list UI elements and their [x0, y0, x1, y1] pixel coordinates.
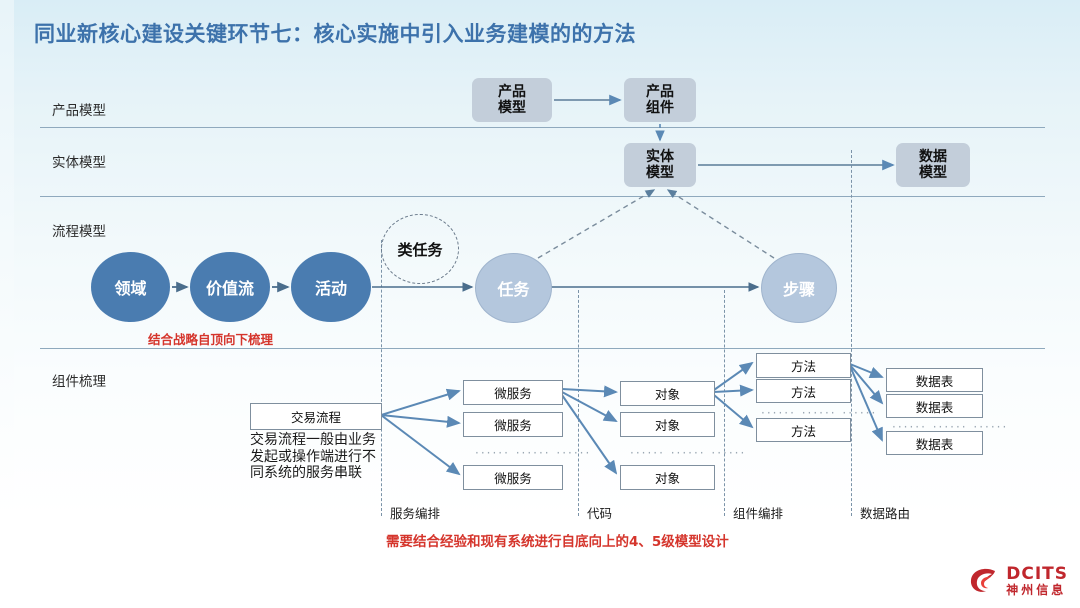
method-box-1[interactable]: 方法	[756, 353, 851, 378]
datatable-box-2[interactable]: 数据表	[886, 394, 983, 418]
divider-process-component	[40, 348, 1045, 349]
product-model-line1: 产品	[498, 84, 526, 100]
circle-value-stream[interactable]: 价值流	[190, 252, 270, 322]
column-label-code: 代码	[587, 503, 612, 522]
row-label-component-combing: 组件梳理	[52, 370, 106, 390]
circle-step[interactable]: 步骤	[761, 253, 837, 323]
circle-domain[interactable]: 领域	[91, 252, 170, 322]
data-model-box[interactable]: 数据 模型	[896, 143, 970, 187]
data-model-line1: 数据	[919, 149, 947, 165]
product-component-box[interactable]: 产品 组件	[624, 78, 696, 122]
circle-class-task[interactable]: 类任务	[381, 214, 459, 284]
column-label-data-routing: 数据路由	[860, 503, 910, 522]
object-box-1[interactable]: 对象	[620, 381, 715, 406]
object-box-3[interactable]: 对象	[620, 465, 715, 490]
separator-code	[578, 290, 579, 516]
method-box-2[interactable]: 方法	[756, 379, 851, 403]
logo-name: DCITS	[1006, 566, 1068, 584]
entity-model-line2: 模型	[646, 165, 674, 181]
entity-model-box[interactable]: 实体 模型	[624, 143, 696, 187]
datatable-box-1[interactable]: 数据表	[886, 368, 983, 392]
divider-entity-process	[40, 196, 1045, 197]
microservice-box-2[interactable]: 微服务	[463, 412, 563, 437]
object-box-2[interactable]: 对象	[620, 412, 715, 437]
separator-service-orchestration	[381, 240, 382, 516]
logo-sub: 神州信息	[1006, 584, 1068, 597]
divider-product-entity	[40, 127, 1045, 128]
row-label-product-model: 产品模型	[52, 99, 106, 119]
column-label-component-orchestration: 组件编排	[733, 503, 783, 522]
slide-canvas: 同业新核心建设关键环节七：核心实施中引入业务建模的的方法 产品模型 实体模型 流…	[0, 0, 1080, 608]
data-model-line2: 模型	[919, 165, 947, 181]
dcits-swirl-icon	[967, 564, 1001, 598]
left-gutter	[0, 0, 14, 608]
circle-task[interactable]: 任务	[475, 253, 552, 323]
row-label-process-model: 流程模型	[52, 220, 106, 240]
trade-flow-caption: 交易流程一般由业务发起或操作端进行不同系统的服务串联	[250, 432, 378, 482]
product-model-line2: 模型	[498, 100, 526, 116]
page-title: 同业新核心建设关键环节七：核心实施中引入业务建模的的方法	[34, 18, 636, 48]
method-box-3[interactable]: 方法	[756, 418, 851, 442]
column-label-service-orchestration: 服务编排	[390, 503, 440, 522]
entity-model-line1: 实体	[646, 149, 674, 165]
microservice-box-1[interactable]: 微服务	[463, 380, 563, 405]
bottom-red-note: 需要结合经验和现有系统进行自底向上的4、5级模型设计	[386, 530, 729, 550]
row-label-entity-model: 实体模型	[52, 151, 106, 171]
product-component-line1: 产品	[646, 84, 674, 100]
trade-flow-box[interactable]: 交易流程	[250, 403, 382, 430]
microservice-box-3[interactable]: 微服务	[463, 465, 563, 490]
object-ellipsis: ······ ······ ······	[630, 446, 746, 460]
circle-activity[interactable]: 活动	[291, 252, 371, 322]
product-component-line2: 组件	[646, 100, 674, 116]
separator-component-orchestration	[724, 290, 725, 516]
product-model-box[interactable]: 产品 模型	[472, 78, 552, 122]
strategy-note: 结合战略自顶向下梳理	[148, 329, 273, 348]
company-logo: DCITS 神州信息	[967, 564, 1068, 598]
microservice-ellipsis: ······ ······ ······	[475, 446, 591, 460]
datatable-box-3[interactable]: 数据表	[886, 431, 983, 455]
separator-data-routing	[851, 150, 852, 516]
